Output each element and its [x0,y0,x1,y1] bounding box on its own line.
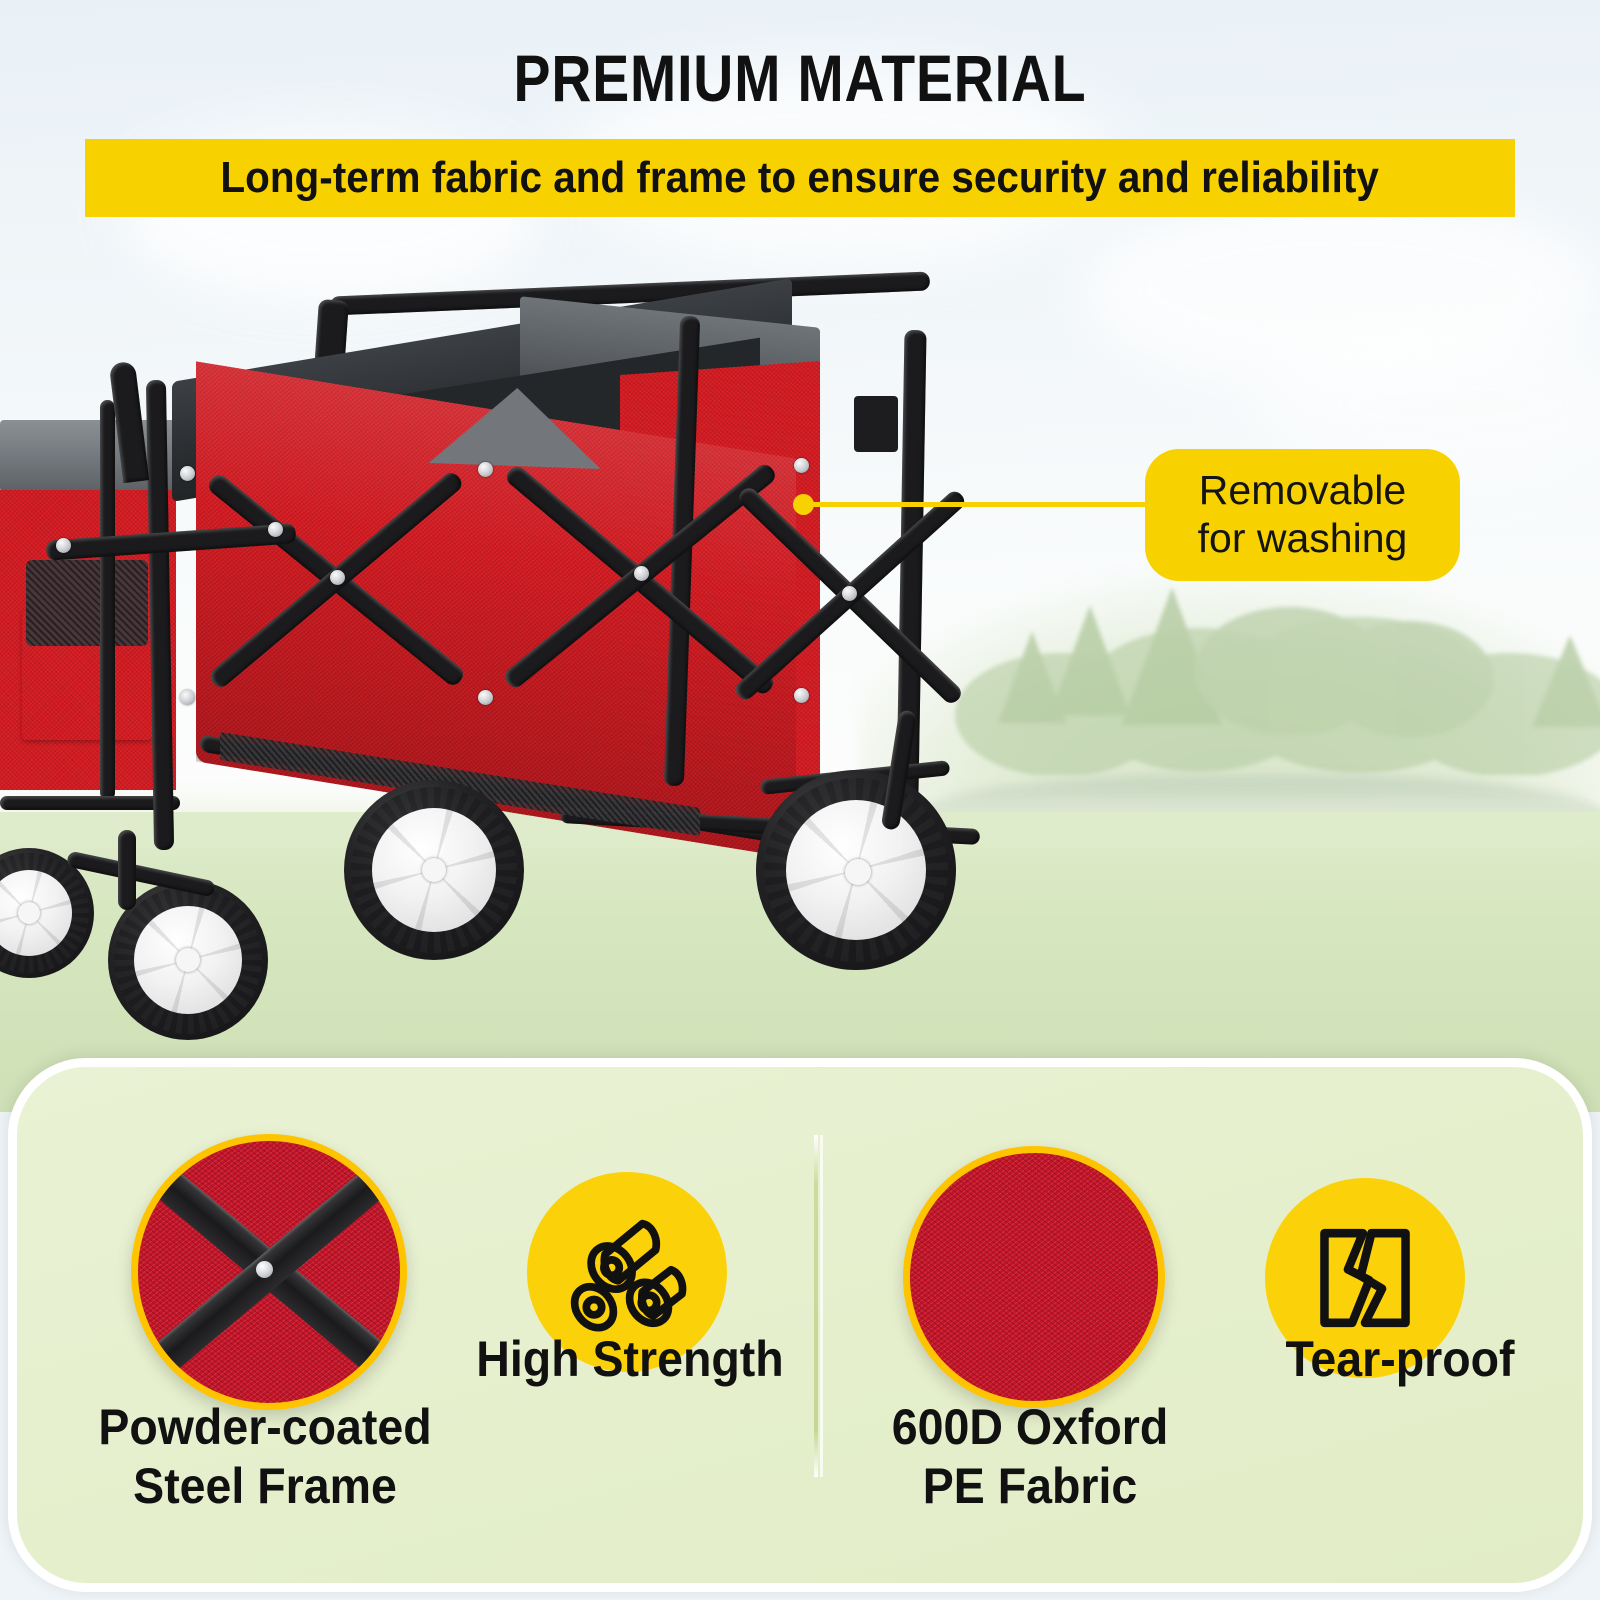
page-title: PREMIUM MATERIAL [128,40,1472,116]
feature-label-powder-coated-steel-frame: Powder-coated Steel Frame [46,1398,483,1516]
callout-removable-for-washing: Removable for washing [1145,449,1460,581]
callout-anchor-dot [793,494,814,515]
feature-label-600d-oxford-pe-fabric: 600D Oxford PE Fabric [825,1398,1234,1516]
corner-gusset [429,385,604,469]
callout-line-2: for washing [1198,515,1408,563]
torn-fabric-icon [1301,1214,1429,1342]
feature-label-line-2: Steel Frame [46,1457,483,1516]
strap-handle [854,396,898,452]
feature-label-line-1: High Strength [435,1330,826,1389]
feature-label-line-1: Powder-coated [46,1398,483,1457]
feature-label-high-strength: High Strength [435,1330,826,1389]
feature-label-line-2: PE Fabric [825,1457,1234,1516]
callout-leader-line [802,502,1154,507]
rivet-icon [256,1261,273,1278]
panel-divider [814,1135,818,1477]
feature-media-600d-oxford-pe-fabric [903,1146,1165,1408]
treeline [940,575,1600,775]
feature-label-tear-proof: Tear-proof [1242,1330,1558,1389]
callout-line-1: Removable [1199,467,1406,515]
panel-divider-highlight [820,1135,823,1477]
subtitle-banner: Long-term fabric and frame to ensure sec… [85,139,1515,217]
feature-media-powder-coated-steel-frame [131,1134,407,1410]
feature-label-line-1: Tear-proof [1242,1330,1558,1389]
fabric-weave-texture [910,1153,1158,1401]
product-infographic: PREMIUM MATERIAL Long-term fabric and fr… [0,0,1600,1600]
stacked-tubes-icon [561,1206,693,1338]
wagon-product-photo [0,270,1010,1080]
feature-label-line-1: 600D Oxford [825,1398,1234,1457]
subtitle-text: Long-term fabric and frame to ensure sec… [221,153,1379,203]
